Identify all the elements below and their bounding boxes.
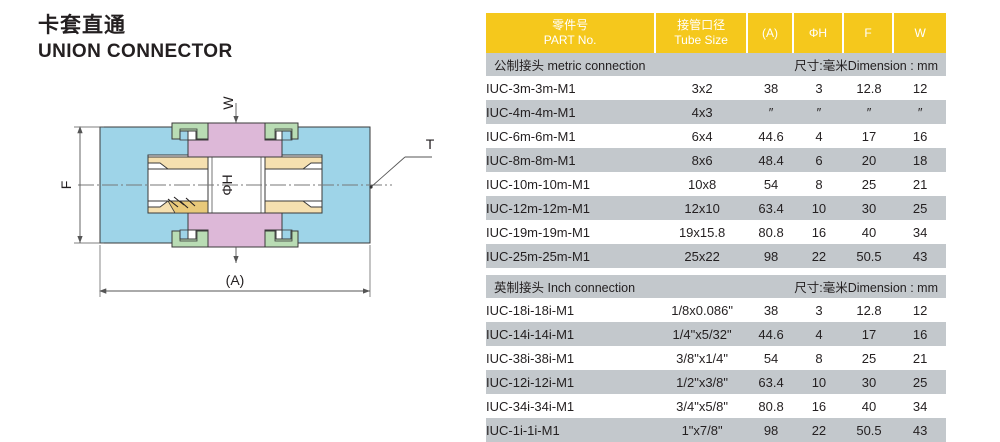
cell-f: 40 bbox=[844, 394, 895, 418]
table-row: IUC-1i-1i-M1 1"x7/8" 98 22 50.5 43 bbox=[486, 418, 946, 442]
header-part-no: 零件号 PART No. bbox=[486, 13, 656, 53]
cell-tube-size: 3/4"x5/8" bbox=[656, 394, 748, 418]
cell-w: 21 bbox=[894, 172, 946, 196]
cell-tube-size: 1/4"x5/32" bbox=[656, 322, 748, 346]
cell-tube-size: 3/8"x1/4" bbox=[656, 346, 748, 370]
cell-f: 12.8 bbox=[844, 298, 895, 322]
cell-part-no: IUC-14i-14i-M1 bbox=[486, 322, 656, 346]
cell-w: 25 bbox=[894, 196, 946, 220]
cell-w: 43 bbox=[894, 244, 946, 268]
section-header-metric: 公制接头 metric connection 尺寸:毫米Dimension : … bbox=[486, 53, 946, 76]
cell-f: 50.5 bbox=[844, 418, 895, 442]
cell-a: 98 bbox=[748, 244, 794, 268]
cell-tube-size: 1"x7/8" bbox=[656, 418, 748, 442]
dimension-label-t: T bbox=[426, 136, 435, 152]
section-title-inch: 英制接头 Inch connection bbox=[486, 275, 794, 298]
cell-w: 21 bbox=[894, 346, 946, 370]
cell-f: 20 bbox=[844, 148, 895, 172]
table-row: IUC-6m-6m-M1 6x4 44.6 4 17 16 bbox=[486, 124, 946, 148]
cell-f: 25 bbox=[844, 172, 895, 196]
cell-tube-size: 12x10 bbox=[656, 196, 748, 220]
table-row: IUC-12m-12m-M1 12x10 63.4 10 30 25 bbox=[486, 196, 946, 220]
cell-phi-h: 16 bbox=[794, 220, 844, 244]
dimension-label-f: F bbox=[60, 181, 74, 190]
product-info-panel: 卡套直通 UNION CONNECTOR bbox=[0, 0, 470, 417]
cell-w: 12 bbox=[894, 298, 946, 322]
product-title-english: UNION CONNECTOR bbox=[38, 41, 233, 64]
cell-tube-size: 4x3 bbox=[656, 100, 748, 124]
cell-part-no: IUC-19m-19m-M1 bbox=[486, 220, 656, 244]
cell-part-no: IUC-12i-12i-M1 bbox=[486, 370, 656, 394]
header-tube-size-cn: 接管口径 bbox=[656, 18, 746, 33]
cell-phi-h: 4 bbox=[794, 124, 844, 148]
cell-phi-h: 22 bbox=[794, 418, 844, 442]
header-tube-size-en: Tube Size bbox=[656, 33, 746, 48]
table-row: IUC-4m-4m-M1 4x3 ″ ″ ″ ″ bbox=[486, 100, 946, 124]
cell-a: 80.8 bbox=[748, 220, 794, 244]
cell-a: 38 bbox=[748, 76, 794, 100]
cell-phi-h: 6 bbox=[794, 148, 844, 172]
table-header: 零件号 PART No. 接管口径 Tube Size (A) ΦH F W bbox=[486, 13, 946, 53]
cell-f: 30 bbox=[844, 196, 895, 220]
table-row: IUC-25m-25m-M1 25x22 98 22 50.5 43 bbox=[486, 244, 946, 268]
cell-a: 63.4 bbox=[748, 196, 794, 220]
cell-part-no: IUC-34i-34i-M1 bbox=[486, 394, 656, 418]
cell-w: 16 bbox=[894, 322, 946, 346]
cell-f: 17 bbox=[844, 124, 895, 148]
cell-phi-h: 4 bbox=[794, 322, 844, 346]
table-row: IUC-38i-38i-M1 3/8"x1/4" 54 8 25 21 bbox=[486, 346, 946, 370]
section-title-metric: 公制接头 metric connection bbox=[486, 53, 794, 76]
table-row: IUC-18i-18i-M1 1/8x0.086" 38 3 12.8 12 bbox=[486, 298, 946, 322]
cell-part-no: IUC-12m-12m-M1 bbox=[486, 196, 656, 220]
cell-f: 40 bbox=[844, 220, 895, 244]
cell-a: 54 bbox=[748, 172, 794, 196]
table-row: IUC-3m-3m-M1 3x2 38 3 12.8 12 bbox=[486, 76, 946, 100]
cell-part-no: IUC-6m-6m-M1 bbox=[486, 124, 656, 148]
cell-a: 80.8 bbox=[748, 394, 794, 418]
cell-a: 38 bbox=[748, 298, 794, 322]
cell-part-no: IUC-4m-4m-M1 bbox=[486, 100, 656, 124]
cell-f: 50.5 bbox=[844, 244, 895, 268]
header-col-phi-h: ΦH bbox=[794, 13, 844, 53]
dimension-a bbox=[100, 245, 370, 297]
cell-a: ″ bbox=[748, 100, 794, 124]
cell-tube-size: 19x15.8 bbox=[656, 220, 748, 244]
cell-phi-h: 22 bbox=[794, 244, 844, 268]
cell-w: 16 bbox=[894, 124, 946, 148]
header-tube-size: 接管口径 Tube Size bbox=[656, 13, 748, 53]
table-body: 公制接头 metric connection 尺寸:毫米Dimension : … bbox=[486, 53, 946, 442]
cell-a: 44.6 bbox=[748, 124, 794, 148]
leader-t bbox=[369, 157, 432, 189]
cell-f: 17 bbox=[844, 322, 895, 346]
header-part-no-en: PART No. bbox=[486, 33, 654, 48]
table-row: IUC-34i-34i-M1 3/4"x5/8" 80.8 16 40 34 bbox=[486, 394, 946, 418]
dimension-label-w: W bbox=[220, 96, 236, 110]
table-row: IUC-10m-10m-M1 10x8 54 8 25 21 bbox=[486, 172, 946, 196]
cell-a: 44.6 bbox=[748, 322, 794, 346]
cell-f: 25 bbox=[844, 346, 895, 370]
cell-tube-size: 6x4 bbox=[656, 124, 748, 148]
section-dimension-note-metric: 尺寸:毫米Dimension : mm bbox=[794, 53, 946, 76]
title-block: 卡套直通 UNION CONNECTOR bbox=[38, 14, 233, 64]
header-col-a: (A) bbox=[748, 13, 794, 53]
section-header-inch: 英制接头 Inch connection 尺寸:毫米Dimension : mm bbox=[486, 275, 946, 298]
header-row: 零件号 PART No. 接管口径 Tube Size (A) ΦH F W bbox=[486, 13, 946, 53]
cross-section-drawing: W ΦH F (A) T bbox=[60, 95, 450, 305]
section-dimension-note-inch: 尺寸:毫米Dimension : mm bbox=[794, 275, 946, 298]
cell-a: 98 bbox=[748, 418, 794, 442]
cell-w: ″ bbox=[894, 100, 946, 124]
cell-w: 25 bbox=[894, 370, 946, 394]
cell-tube-size: 8x6 bbox=[656, 148, 748, 172]
cell-tube-size: 1/8x0.086" bbox=[656, 298, 748, 322]
cell-phi-h: 10 bbox=[794, 196, 844, 220]
cell-w: 34 bbox=[894, 394, 946, 418]
cell-w: 18 bbox=[894, 148, 946, 172]
cell-a: 54 bbox=[748, 346, 794, 370]
cell-tube-size: 1/2"x3/8" bbox=[656, 370, 748, 394]
cell-part-no: IUC-10m-10m-M1 bbox=[486, 172, 656, 196]
cell-part-no: IUC-1i-1i-M1 bbox=[486, 418, 656, 442]
cell-phi-h: 3 bbox=[794, 76, 844, 100]
product-title-chinese: 卡套直通 bbox=[38, 14, 233, 38]
cell-phi-h: 8 bbox=[794, 172, 844, 196]
cell-tube-size: 25x22 bbox=[656, 244, 748, 268]
cell-a: 63.4 bbox=[748, 370, 794, 394]
table-row: IUC-8m-8m-M1 8x6 48.4 6 20 18 bbox=[486, 148, 946, 172]
table-row: IUC-14i-14i-M1 1/4"x5/32" 44.6 4 17 16 bbox=[486, 322, 946, 346]
header-col-f: F bbox=[844, 13, 895, 53]
table-row: IUC-19m-19m-M1 19x15.8 80.8 16 40 34 bbox=[486, 220, 946, 244]
cell-phi-h: 3 bbox=[794, 298, 844, 322]
specification-table: 零件号 PART No. 接管口径 Tube Size (A) ΦH F W 公… bbox=[486, 13, 946, 442]
section-spacer bbox=[486, 268, 946, 275]
header-col-w: W bbox=[894, 13, 946, 53]
cell-part-no: IUC-8m-8m-M1 bbox=[486, 148, 656, 172]
cell-tube-size: 10x8 bbox=[656, 172, 748, 196]
fitting-assembly bbox=[78, 123, 392, 247]
cell-w: 12 bbox=[894, 76, 946, 100]
table-row: IUC-12i-12i-M1 1/2"x3/8" 63.4 10 30 25 bbox=[486, 370, 946, 394]
cell-f: ″ bbox=[844, 100, 895, 124]
dimension-label-a: (A) bbox=[226, 272, 245, 288]
cell-f: 30 bbox=[844, 370, 895, 394]
cell-w: 43 bbox=[894, 418, 946, 442]
cell-part-no: IUC-3m-3m-M1 bbox=[486, 76, 656, 100]
cell-phi-h: ″ bbox=[794, 100, 844, 124]
dimension-label-phi-h: ΦH bbox=[219, 174, 235, 195]
cell-part-no: IUC-18i-18i-M1 bbox=[486, 298, 656, 322]
cell-part-no: IUC-25m-25m-M1 bbox=[486, 244, 656, 268]
cell-tube-size: 3x2 bbox=[656, 76, 748, 100]
cell-f: 12.8 bbox=[844, 76, 895, 100]
cell-w: 34 bbox=[894, 220, 946, 244]
cell-phi-h: 16 bbox=[794, 394, 844, 418]
cell-part-no: IUC-38i-38i-M1 bbox=[486, 346, 656, 370]
cell-a: 48.4 bbox=[748, 148, 794, 172]
cell-phi-h: 10 bbox=[794, 370, 844, 394]
header-part-no-cn: 零件号 bbox=[486, 18, 654, 33]
cell-phi-h: 8 bbox=[794, 346, 844, 370]
